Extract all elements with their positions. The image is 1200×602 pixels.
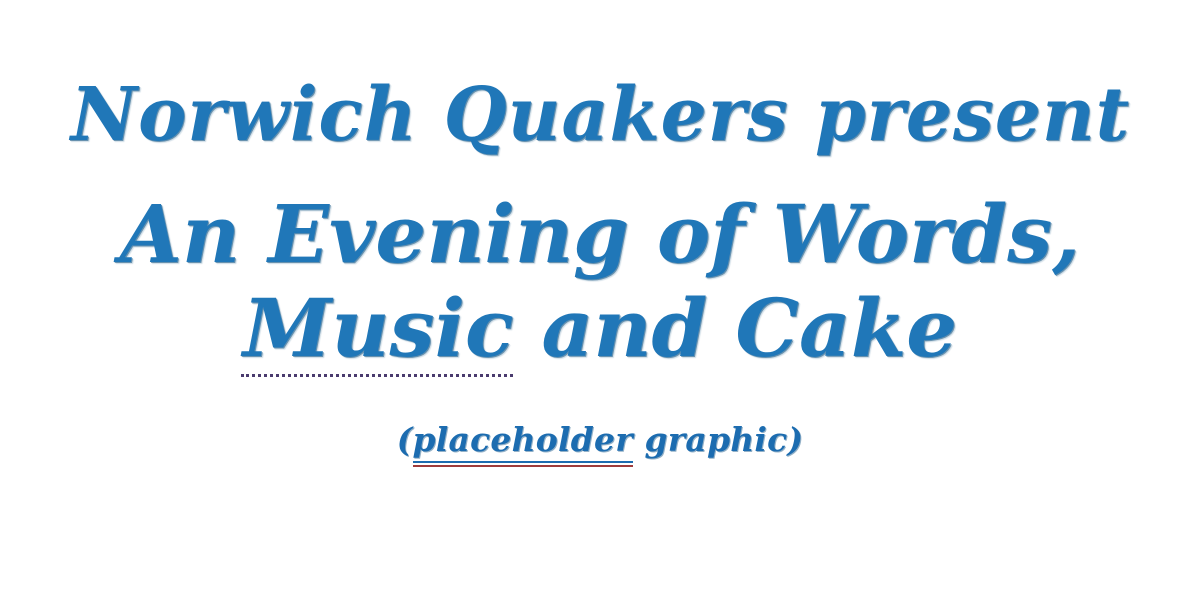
placeholder-note-close-paren: ) (787, 420, 803, 459)
presenter-line: Norwich Quakers present (70, 78, 1129, 152)
event-flyer: Norwich Quakers present An Evening of Wo… (0, 0, 1200, 602)
event-title-line-2-rest: and Cake (514, 281, 957, 375)
event-title-line-1: An Evening of Words, (120, 194, 1080, 274)
placeholder-graphic-note: (placeholder graphic) (397, 420, 804, 459)
placeholder-note-underlined-word: placeholder (413, 420, 633, 459)
placeholder-note-rest: graphic (633, 420, 788, 459)
event-title-block: An Evening of Words, Music and Cake (120, 194, 1080, 368)
placeholder-note-open-paren: ( (397, 420, 413, 459)
misspelled-word-music: Music (243, 288, 514, 368)
event-title-line-2: Music and Cake (243, 288, 957, 368)
